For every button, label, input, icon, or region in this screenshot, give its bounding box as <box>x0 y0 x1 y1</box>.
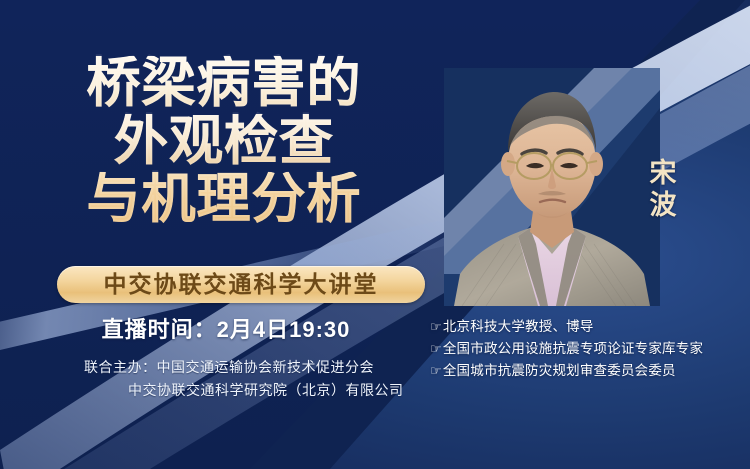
speaker-name: 宋 波 <box>640 158 686 222</box>
pointing-hand-icon: ☞ <box>430 316 442 337</box>
title-line-1: 桥梁病害的 <box>0 56 452 110</box>
speaker-name-char-1: 宋 <box>640 158 686 190</box>
pointing-hand-icon: ☞ <box>430 360 442 381</box>
credential-text: 北京科技大学教授、博导 <box>443 316 594 338</box>
title-line-2: 外观检查 <box>0 114 452 168</box>
speaker-name-char-2: 波 <box>640 190 686 222</box>
live-time: 直播时间：2月4日19:30 <box>0 312 452 344</box>
credential-text: 全国城市抗震防灾规划审查委员会委员 <box>443 360 676 382</box>
credential-item: ☞ 北京科技大学教授、博导 <box>430 316 703 338</box>
organizers-block: 联合主办：中国交通运输协会新技术促进分会 中交协联交通科学研究院（北京）有限公司 <box>84 356 456 402</box>
poster-title: 桥梁病害的 外观检查 与机理分析 <box>0 56 452 230</box>
series-badge: 中交协联交通科学大讲堂 <box>57 266 425 303</box>
organizer-line-1: 联合主办：中国交通运输协会新技术促进分会 <box>84 356 456 379</box>
series-badge-label: 中交协联交通科学大讲堂 <box>104 273 379 296</box>
credential-item: ☞ 全国城市抗震防灾规划审查委员会委员 <box>430 360 703 382</box>
webinar-poster: 桥梁病害的 外观检查 与机理分析 中交协联交通科学大讲堂 直播时间：2月4日19… <box>0 0 750 469</box>
pointing-hand-icon: ☞ <box>430 338 442 359</box>
organizer-line-2: 中交协联交通科学研究院（北京）有限公司 <box>84 379 456 402</box>
speaker-credentials: ☞ 北京科技大学教授、博导 ☞ 全国市政公用设施抗震专项论证专家库专家 ☞ 全国… <box>430 316 703 382</box>
credential-text: 全国市政公用设施抗震专项论证专家库专家 <box>443 338 703 360</box>
credential-item: ☞ 全国市政公用设施抗震专项论证专家库专家 <box>430 338 703 360</box>
speaker-portrait <box>444 68 660 306</box>
title-line-3: 与机理分析 <box>0 172 452 226</box>
